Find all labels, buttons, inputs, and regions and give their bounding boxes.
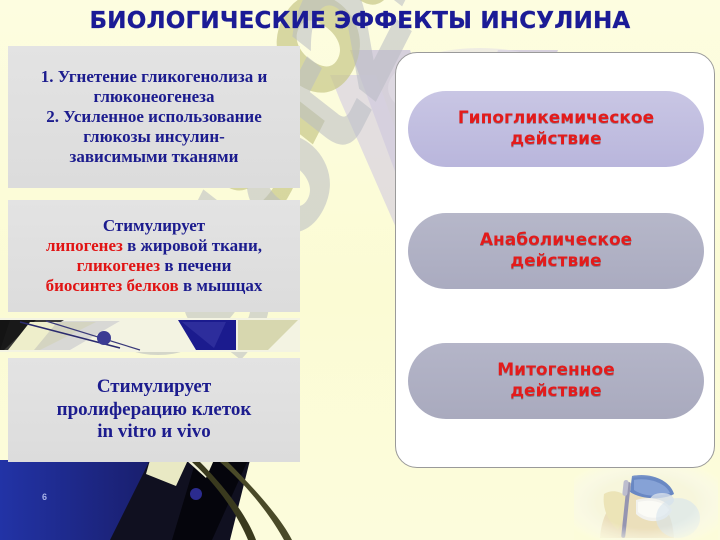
box2-l3-s2: в печени bbox=[160, 256, 231, 275]
box1-line-4: глюкозы инсулин- bbox=[41, 127, 268, 147]
left-box-inhibition: 1. Угнетение гликогенолиза и глюконеоген… bbox=[8, 46, 300, 188]
box2-l2-s2: в жировой ткани, bbox=[123, 236, 262, 255]
page-number: 6 bbox=[42, 492, 47, 502]
box1-line-1: 1. Угнетение гликогенолиза и bbox=[41, 67, 268, 87]
pill3-line-1: Митогенное bbox=[497, 360, 614, 381]
slide-title: БИОЛОГИЧЕСКИЕ ЭФФЕКТЫ ИНСУЛИНА bbox=[0, 8, 720, 34]
box3-line-2: пролиферацию клеток bbox=[57, 399, 252, 421]
box2-line-2: липогенез в жировой ткани, bbox=[46, 236, 263, 256]
left-box-stimulation-synthesis: Стимулирует липогенез в жировой ткани, г… bbox=[8, 200, 300, 312]
pill2-line-2: действие bbox=[480, 251, 632, 272]
effect-pill-anabolic: Анаболическое действие bbox=[408, 213, 704, 289]
pill3-line-2: действие bbox=[497, 381, 614, 402]
box2-l3-s1: гликогенез bbox=[77, 256, 160, 275]
diagonal-accent-graphic bbox=[0, 318, 300, 352]
left-box-2-text: Стимулирует липогенез в жировой ткани, г… bbox=[46, 216, 263, 296]
effect-pill-hypoglycemic: Гипогликемическое действие bbox=[408, 91, 704, 167]
pill-2-text: Анаболическое действие bbox=[480, 230, 632, 271]
box2-l4-s2: в мышцах bbox=[179, 276, 263, 295]
box3-line-1: Стимулирует bbox=[57, 376, 252, 398]
box3-line-3: in vitro и vivo bbox=[57, 421, 252, 443]
box2-line-4: биосинтез белков в мышцах bbox=[46, 276, 263, 296]
box2-l1-s1: Стимулирует bbox=[103, 216, 205, 235]
pill-3-text: Митогенное действие bbox=[497, 360, 614, 401]
effect-pill-mitogenic: Митогенное действие bbox=[408, 343, 704, 419]
left-box-3-text: Стимулирует пролиферацию клеток in vitro… bbox=[57, 376, 252, 443]
left-box-1-text: 1. Угнетение гликогенолиза и глюконеоген… bbox=[41, 67, 268, 167]
pill1-line-2: действие bbox=[458, 129, 654, 150]
box2-l4-s1: биосинтез белков bbox=[46, 276, 179, 295]
slide: slot24 slot24 bbox=[0, 0, 720, 540]
box2-l2-s1: липогенез bbox=[46, 236, 123, 255]
pill-1-text: Гипогликемическое действие bbox=[458, 108, 654, 149]
pill1-line-1: Гипогликемическое bbox=[458, 108, 654, 129]
box2-line-3: гликогенез в печени bbox=[46, 256, 263, 276]
effects-panel: Гипогликемическое действие Анаболическое… bbox=[395, 52, 715, 468]
box1-line-2: глюконеогенеза bbox=[41, 87, 268, 107]
pill2-line-1: Анаболическое bbox=[480, 230, 632, 251]
box1-line-5: зависимыми тканями bbox=[41, 147, 268, 167]
left-box-proliferation: Стимулирует пролиферацию клеток in vitro… bbox=[8, 358, 300, 462]
navy-corner-graphic bbox=[0, 460, 420, 540]
box2-line-1: Стимулирует bbox=[46, 216, 263, 236]
surgeon-photo bbox=[574, 466, 718, 540]
box1-line-3: 2. Усиленное использование bbox=[41, 107, 268, 127]
